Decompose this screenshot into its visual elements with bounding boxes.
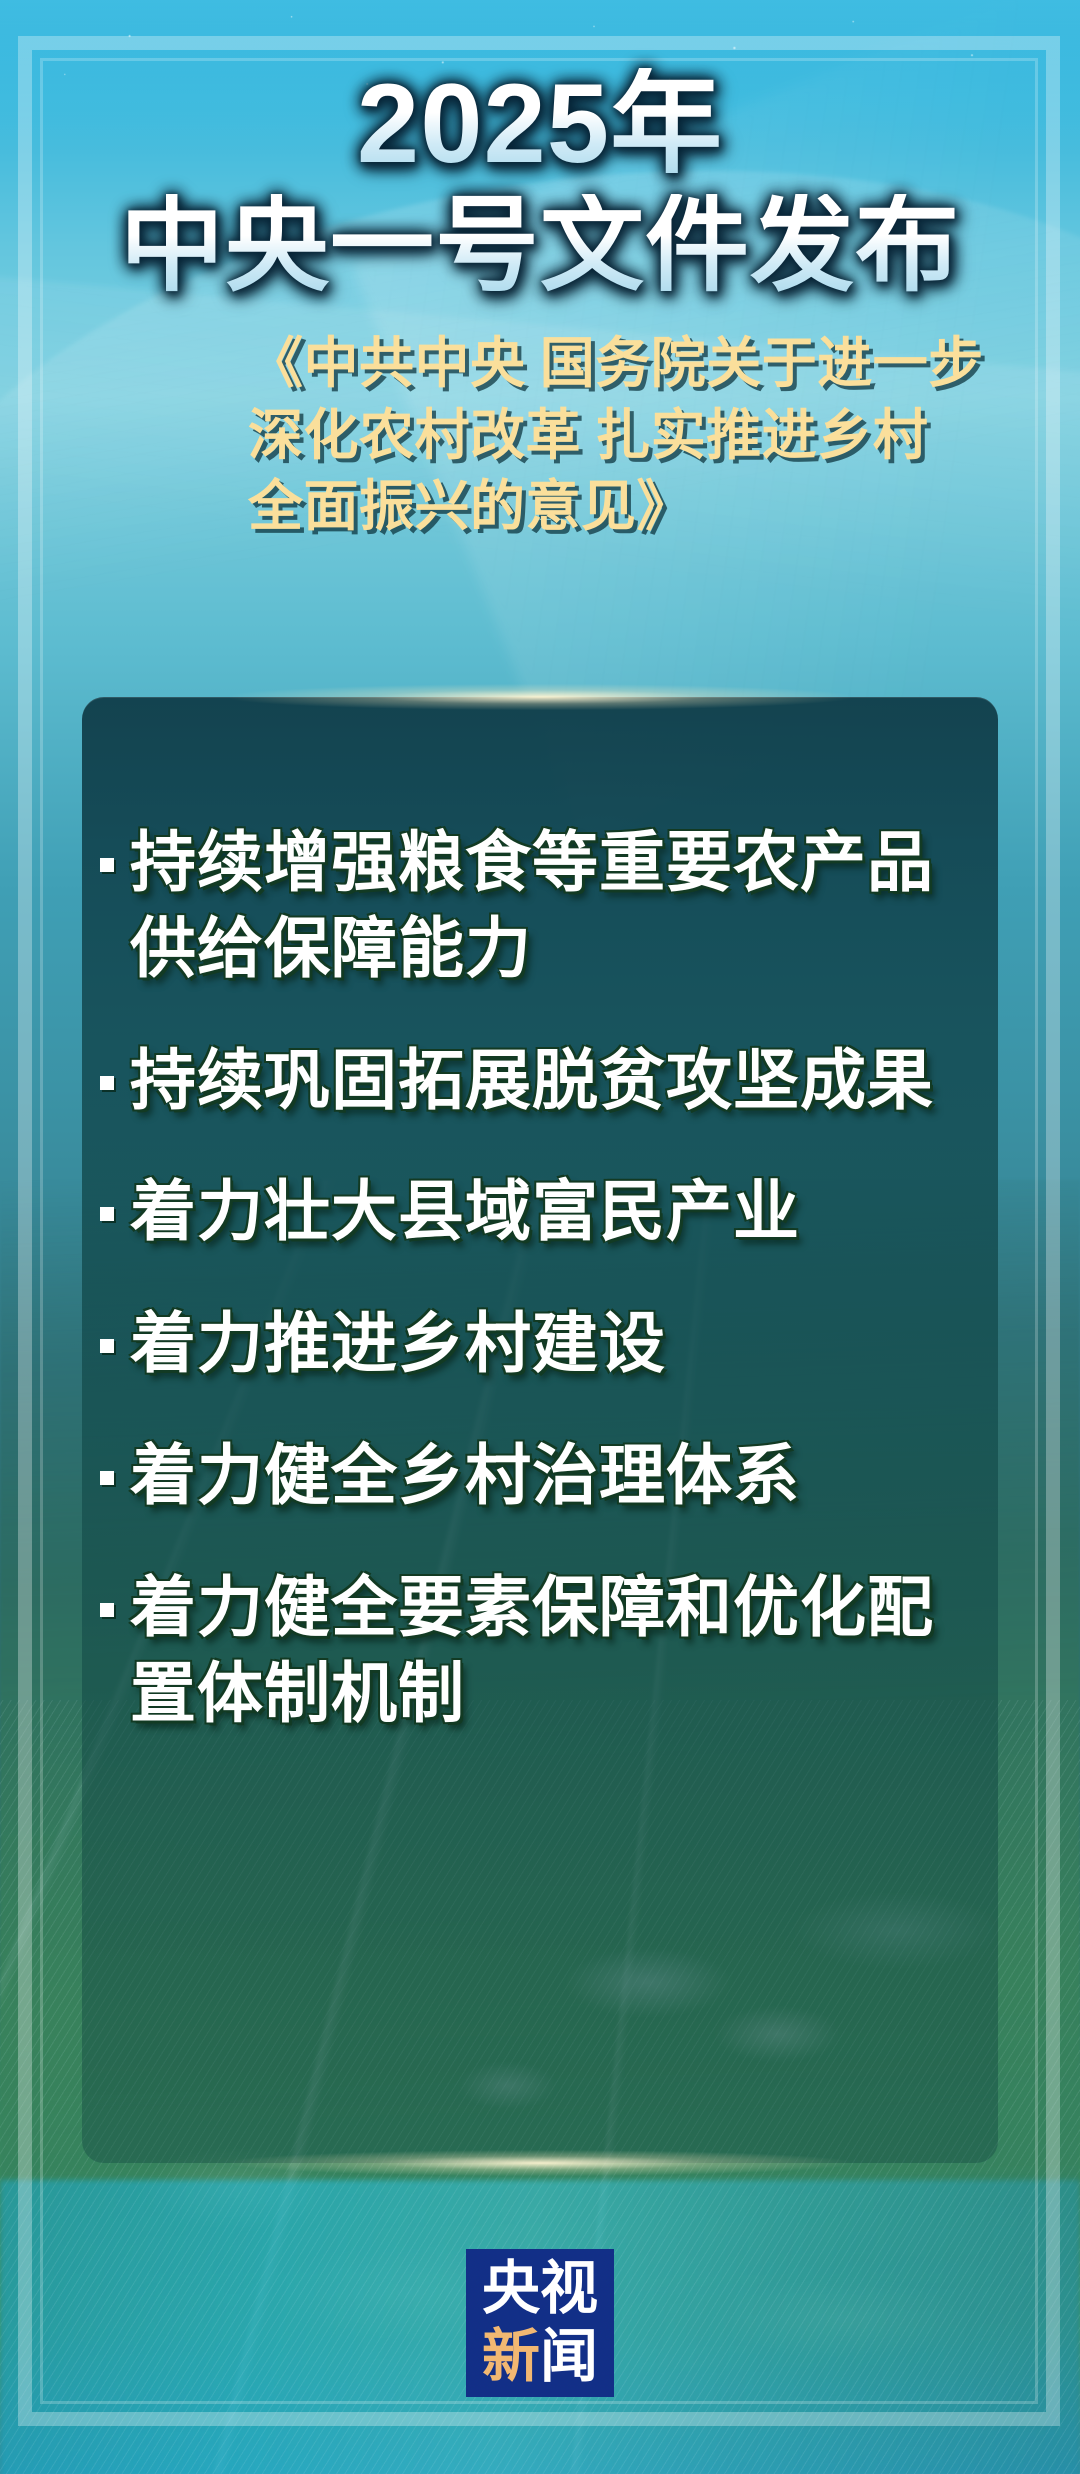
document-title-line-2: 深化农村改革 扎实推进乡村 — [248, 400, 850, 472]
header-block: 2025年 中央一号文件发布 《中共中央 国务院关于进一步 深化农村改革 扎实推… — [0, 68, 1080, 543]
list-item: 着力推进乡村建设 — [82, 1301, 998, 1387]
document-title: 《中共中央 国务院关于进一步 深化农村改革 扎实推进乡村 全面振兴的意见》 — [230, 328, 850, 543]
page-title-main: 中央一号文件发布 — [0, 194, 1080, 298]
document-title-line-3: 全面振兴的意见》 — [248, 471, 850, 543]
poster-root: 2025年 中央一号文件发布 《中共中央 国务院关于进一步 深化农村改革 扎实推… — [0, 0, 1080, 2474]
list-item-label: 着力推进乡村建设 — [130, 1301, 666, 1387]
highlights-list: 持续增强粮食等重要农产品供给保障能力 持续巩固拓展脱贫攻坚成果 着力壮大县域富民… — [82, 820, 998, 1782]
square-bullet-icon — [100, 858, 114, 872]
list-item: 着力健全乡村治理体系 — [82, 1433, 998, 1519]
logo-line-bottom: 新 闻 — [482, 2328, 598, 2386]
logo-char-shi: 视 — [540, 2260, 598, 2318]
square-bullet-icon — [100, 1207, 114, 1221]
page-title-year: 2025年 — [0, 68, 1080, 180]
logo-line-top: 央 视 — [482, 2260, 598, 2318]
cctv-news-logo: 央 视 新 闻 — [466, 2249, 614, 2397]
logo-char-wen: 闻 — [540, 2328, 598, 2386]
square-bullet-icon — [100, 1471, 114, 1485]
list-item-label: 着力健全要素保障和优化配置体制机制 — [130, 1565, 960, 1737]
list-item-label: 着力健全乡村治理体系 — [130, 1433, 800, 1519]
square-bullet-icon — [100, 1339, 114, 1353]
logo-char-yang: 央 — [482, 2260, 540, 2318]
logo-char-xin: 新 — [482, 2328, 540, 2386]
list-item: 着力健全要素保障和优化配置体制机制 — [82, 1565, 998, 1737]
square-bullet-icon — [100, 1076, 114, 1090]
list-item-label: 持续增强粮食等重要农产品供给保障能力 — [130, 820, 960, 992]
list-item-label: 着力壮大县域富民产业 — [130, 1169, 800, 1255]
list-item: 持续增强粮食等重要农产品供给保障能力 — [82, 820, 998, 992]
list-item-label: 持续巩固拓展脱贫攻坚成果 — [130, 1038, 934, 1124]
square-bullet-icon — [100, 1603, 114, 1617]
list-item: 持续巩固拓展脱贫攻坚成果 — [82, 1038, 998, 1124]
list-item: 着力壮大县域富民产业 — [82, 1169, 998, 1255]
document-title-line-1: 《中共中央 国务院关于进一步 — [248, 328, 850, 400]
